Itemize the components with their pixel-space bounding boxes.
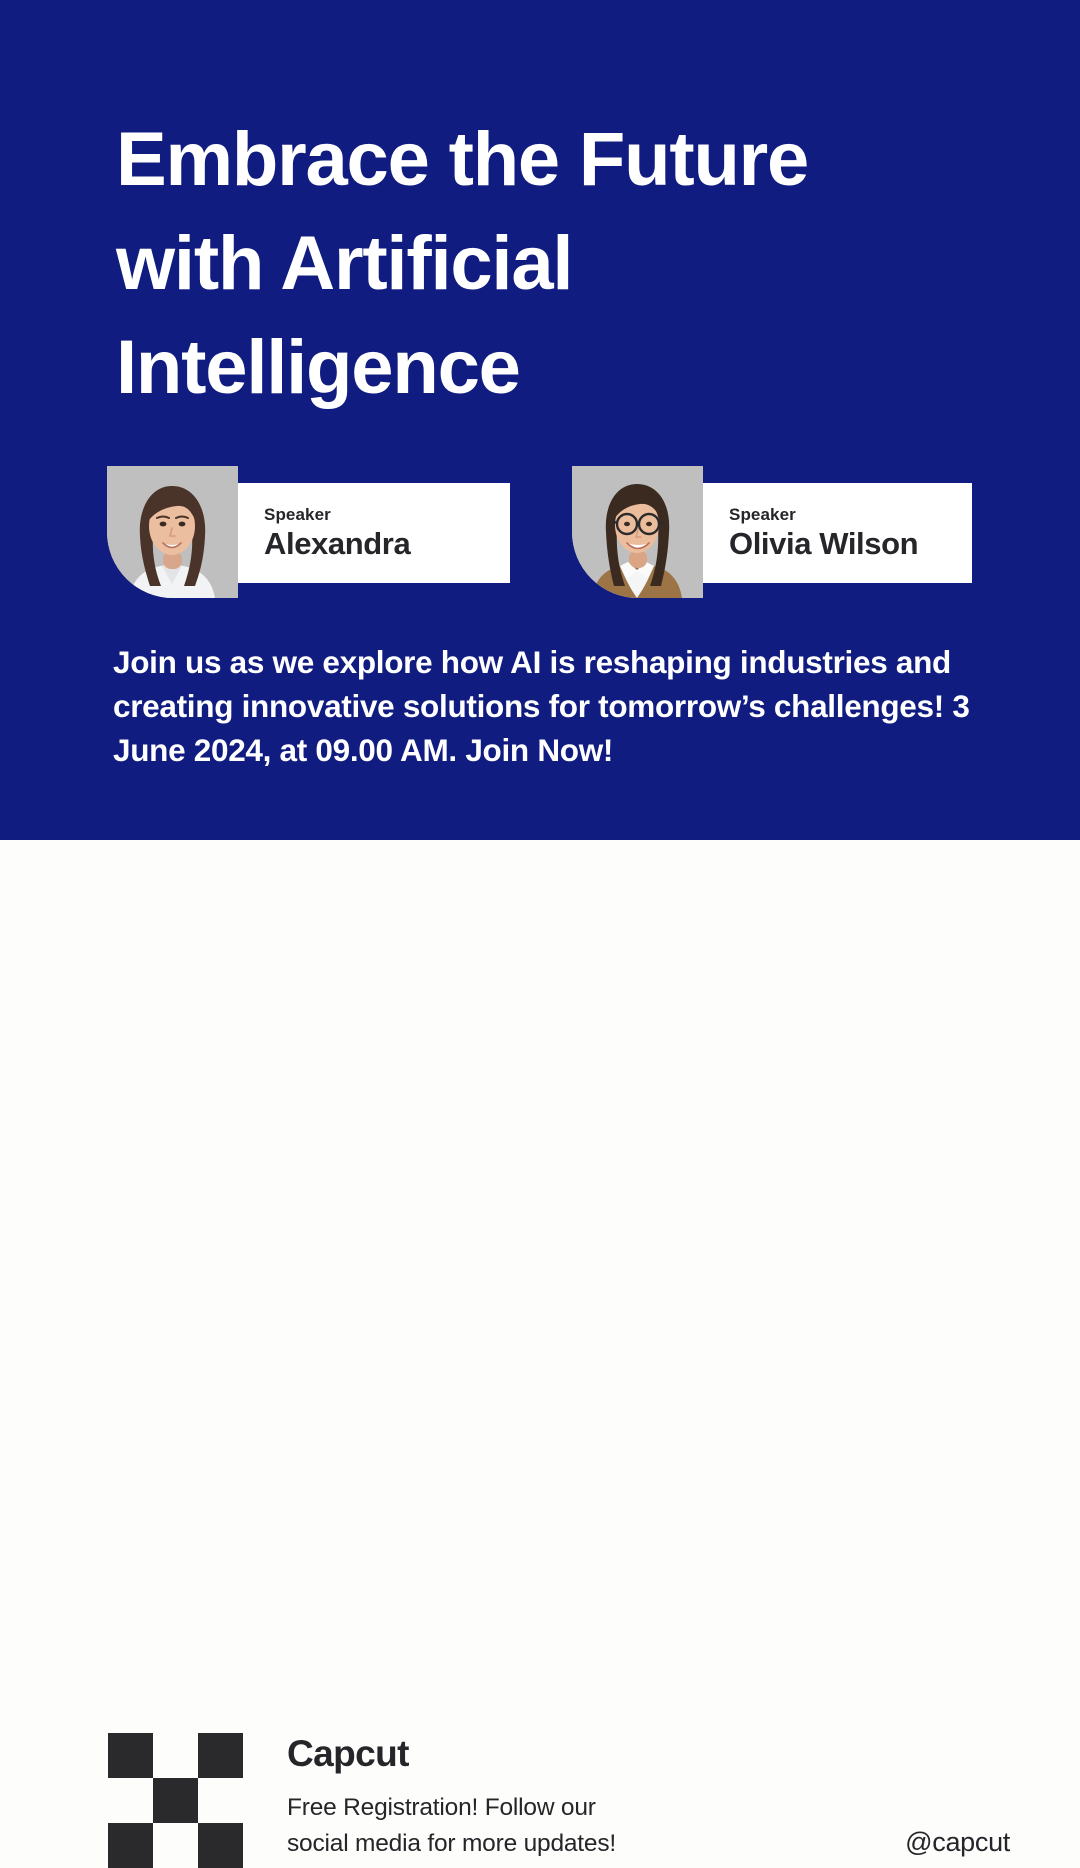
speaker-name: Alexandra: [264, 528, 510, 561]
footer-section: Capcut Free Registration! Follow our soc…: [0, 840, 1080, 1080]
speaker-role-label: Speaker: [264, 505, 510, 525]
brand-text-block: Capcut Free Registration! Follow our soc…: [287, 1733, 717, 1862]
speaker-role-label: Speaker: [729, 505, 972, 525]
speaker-name: Olivia Wilson: [729, 528, 972, 561]
speaker-card: Speaker Olivia Wilson: [572, 466, 972, 598]
speaker-avatar: [572, 466, 703, 598]
hero-section: Embrace the Future with Artificial Intel…: [0, 0, 1080, 840]
speaker-label-box: Speaker Alexandra: [238, 483, 510, 583]
brand-name: Capcut: [287, 1733, 717, 1776]
speaker-avatar: [107, 466, 238, 598]
brand-tagline: Free Registration! Follow our social med…: [287, 1790, 717, 1862]
checkerboard-logo-icon: [108, 1733, 243, 1868]
social-handle[interactable]: @capcut: [905, 1827, 1010, 1858]
event-description: Join us as we explore how AI is reshapin…: [113, 640, 1003, 772]
speaker-card: Speaker Alexandra: [107, 466, 510, 598]
page-title: Embrace the Future with Artificial Intel…: [116, 108, 1016, 420]
speaker-label-box: Speaker Olivia Wilson: [703, 483, 972, 583]
